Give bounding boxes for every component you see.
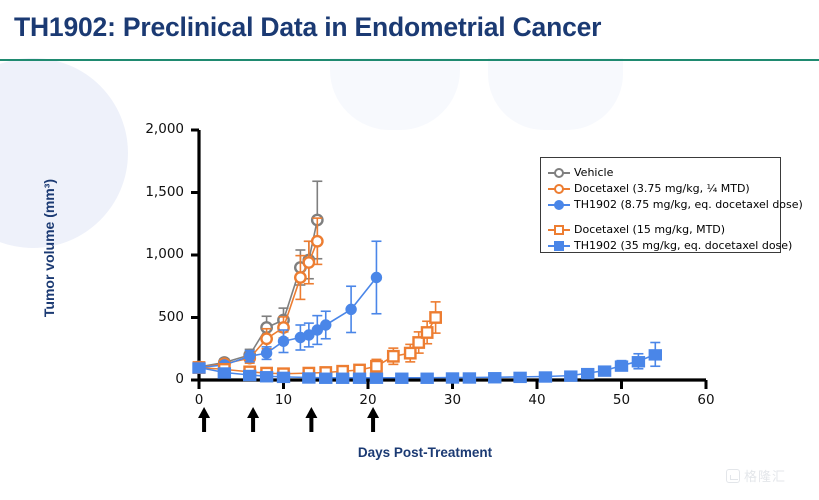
- data-point: [371, 361, 381, 371]
- data-point: [463, 373, 475, 383]
- data-point: [244, 370, 256, 380]
- legend-item-docetaxel-quarter-mtd: Docetaxel (3.75 mg/kg, ¼ MTD): [548, 181, 774, 196]
- data-point: [303, 373, 315, 383]
- x-tick-label: 60: [686, 392, 726, 408]
- open-circle-gray-icon: [548, 166, 570, 180]
- legend-item-th1902-875: TH1902 (8.75 mg/kg, eq. docetaxel dose): [548, 197, 774, 212]
- data-point: [615, 361, 627, 371]
- data-point: [422, 327, 432, 337]
- data-point: [261, 348, 271, 358]
- data-point: [277, 372, 289, 382]
- page-title: TH1902: Preclinical Data in Endometrial …: [14, 12, 601, 43]
- x-tick-label: 0: [179, 392, 219, 408]
- data-point: [261, 334, 271, 344]
- data-point: [514, 372, 526, 382]
- data-point: [320, 373, 332, 383]
- data-point: [295, 272, 305, 282]
- x-tick-label: 10: [264, 392, 304, 408]
- data-point: [346, 304, 356, 314]
- chart-legend: Vehicle Docetaxel (3.75 mg/kg, ¼ MTD) TH…: [540, 157, 781, 253]
- open-square-orange-icon: [548, 223, 570, 237]
- data-point: [312, 236, 322, 246]
- data-point: [565, 371, 577, 381]
- data-point: [396, 373, 408, 383]
- watermark-text: 格隆汇: [744, 466, 786, 485]
- dosing-arrow: [198, 407, 210, 432]
- data-point: [218, 368, 230, 378]
- filled-square-blue-icon: [548, 239, 570, 253]
- y-tick-label: 1,500: [120, 184, 184, 200]
- x-tick-label: 30: [433, 392, 473, 408]
- data-point: [260, 372, 272, 382]
- slide-root: TH1902: Preclinical Data in Endometrial …: [0, 0, 819, 500]
- data-point: [582, 368, 594, 378]
- y-tick-label: 2,000: [120, 121, 184, 137]
- dosing-arrow: [247, 407, 259, 432]
- slide-header: TH1902: Preclinical Data in Endometrial …: [0, 0, 819, 60]
- y-tick-label: 500: [120, 309, 184, 325]
- legend-label: TH1902 (35 mg/kg, eq. docetaxel dose): [574, 239, 792, 252]
- legend-item-vehicle: Vehicle: [548, 165, 774, 180]
- dosing-arrow: [305, 407, 317, 432]
- x-axis-label: Days Post-Treatment: [280, 445, 570, 460]
- y-tick-label: 1,000: [120, 246, 184, 262]
- data-point: [632, 357, 644, 367]
- data-point: [539, 372, 551, 382]
- data-point: [321, 320, 331, 330]
- legend-label: Docetaxel (3.75 mg/kg, ¼ MTD): [574, 182, 750, 195]
- x-tick-label: 50: [602, 392, 642, 408]
- x-tick-label: 40: [517, 392, 557, 408]
- data-point: [598, 366, 610, 376]
- watermark: 格隆汇: [726, 466, 786, 485]
- legend-item-docetaxel-mtd: Docetaxel (15 mg/kg, MTD): [548, 222, 774, 237]
- tumor-growth-chart: Tumor volume (mm³) Days Post-Treatment 0…: [0, 60, 819, 500]
- data-point: [388, 351, 398, 361]
- open-circle-orange-icon: [548, 182, 570, 196]
- data-point: [649, 350, 661, 360]
- data-point: [193, 363, 205, 373]
- legend-label: Docetaxel (15 mg/kg, MTD): [574, 223, 725, 236]
- data-point: [304, 257, 314, 267]
- data-point: [489, 373, 501, 383]
- y-axis-label: Tumor volume (mm³): [41, 153, 57, 343]
- legend-label: TH1902 (8.75 mg/kg, eq. docetaxel dose): [574, 198, 803, 211]
- data-point: [446, 373, 458, 383]
- data-point: [405, 348, 415, 358]
- x-tick-label: 20: [348, 392, 388, 408]
- glonghui-logo-icon: [726, 469, 740, 483]
- data-point: [278, 336, 288, 346]
- legend-label: Vehicle: [574, 166, 613, 179]
- y-tick-label: 0: [120, 371, 184, 387]
- legend-item-th1902-35: TH1902 (35 mg/kg, eq. docetaxel dose): [548, 238, 774, 253]
- data-point: [371, 272, 381, 282]
- filled-circle-blue-icon: [548, 198, 570, 212]
- data-point: [370, 373, 382, 383]
- data-point: [336, 373, 348, 383]
- data-point: [421, 373, 433, 383]
- data-point: [353, 373, 365, 383]
- dosing-arrow: [367, 407, 379, 432]
- data-point: [245, 351, 255, 361]
- data-point: [430, 312, 440, 322]
